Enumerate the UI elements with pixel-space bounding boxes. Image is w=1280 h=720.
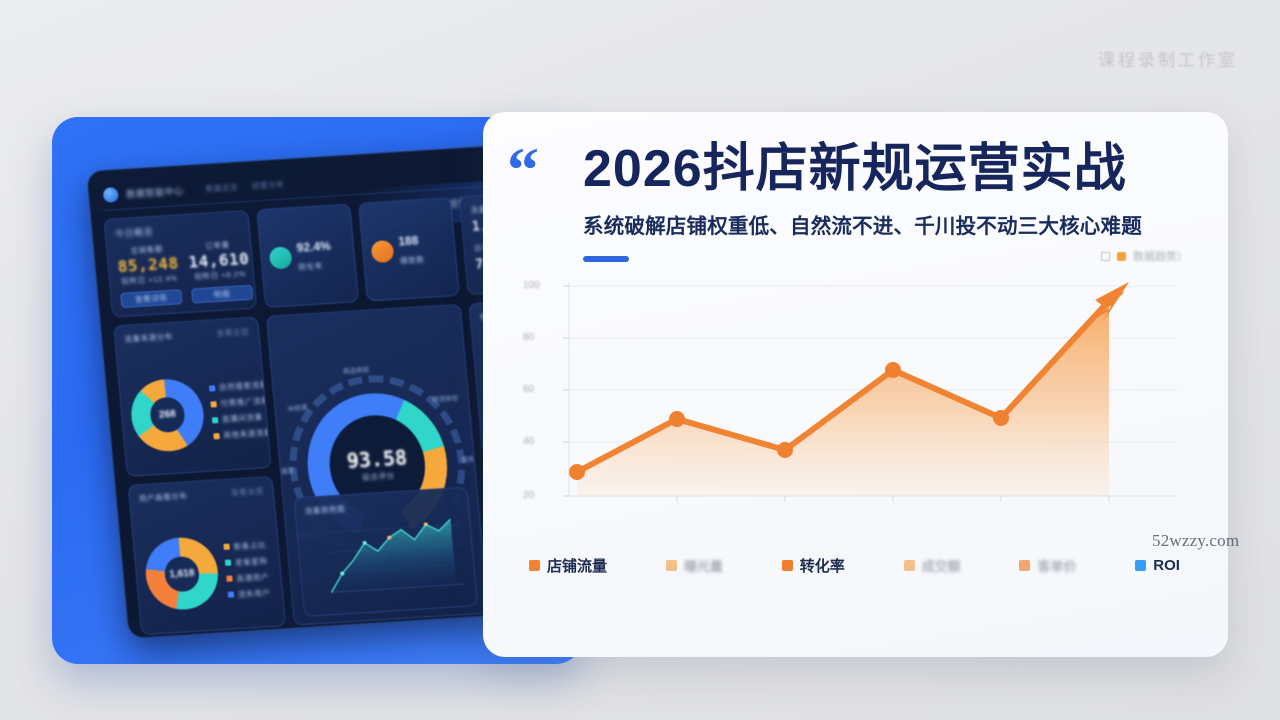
kpi-detail-button[interactable]: 查看详情 [120,289,182,308]
user-profile-donut-card: 用户画像分布 查看全部 1,618 新客占比 老客复购 高潜用户 [128,475,286,635]
legend-swatch-icon [226,576,233,582]
dashboard-brand: 数据智能中心 [126,184,185,201]
data-point [569,464,585,480]
legend-swatch-icon [212,417,219,423]
donut-card-title: 用户画像分布 [138,490,188,504]
pill-label: 转化率 [298,261,323,271]
data-point [885,362,901,378]
chart-header-label: 数据趋势） [1133,248,1188,264]
donut-center: 1,618 [163,556,201,593]
kpi-overview-card: 今日概览 总销售额 85,248 较昨日 +12.4% 查看详情 订单量 [103,210,257,318]
area-chart [306,513,467,606]
pill-value: 92.4% [296,238,331,254]
kpi-sub: 较昨日 +8.2% [189,268,251,283]
data-point [777,442,793,458]
legend-swatch-icon [904,560,915,571]
legend-swatch-icon [213,433,220,439]
legend-label: 其他来源流量 [223,427,271,441]
flame-icon [370,239,394,262]
legend-item-0[interactable]: 店铺流量 [529,555,607,576]
donut-chart: 268 [128,377,206,453]
y-axis-label: 60 [523,384,534,395]
donut-legend: 自然搜索流量 付费推广流量 直播间流量 其他来源流量 [209,379,272,441]
legend-label: 流失用户 [237,587,270,600]
chart-area-fill [577,296,1109,496]
legend-swatch-icon [1019,560,1030,571]
gauge-tick-label: 退款速度 [267,464,294,476]
growth-trend-chart: 100 80 60 40 20 [517,274,1194,546]
chart-legend: 店铺流量 曝光量 转化率 成交额 客单价 ROI [517,552,1194,578]
legend-item: 直播间流量 [212,411,272,426]
legend-label: 自然搜索流量 [219,379,269,393]
legend-label: 转化率 [800,555,845,576]
legend-item: 流失用户 [228,587,271,601]
gauge-value: 93.58 [346,445,408,473]
donut-card-link[interactable]: 查看全部 [216,326,249,339]
legend-item-4[interactable]: 客单价 [1019,556,1076,575]
legend-label: 成交额 [922,556,961,575]
legend-item-3[interactable]: 成交额 [904,556,961,575]
kpi-card-title: 今日概览 [114,225,154,240]
donut-card-title: 流量来源分布 [124,331,174,345]
kpi-detail-button[interactable]: 明细 [191,285,253,304]
legend-swatch-icon [228,592,235,598]
pill-stat-card: 188 爆款数 [358,197,461,301]
legend-label: 店铺流量 [547,555,607,576]
data-point [993,410,1009,426]
kpi-detail-label: 明细 [213,288,230,300]
y-axis-label: 100 [523,280,540,291]
legend-item: 老客复购 [225,555,268,569]
dashboard-nav-item[interactable]: 数据总览 [205,181,238,194]
pill-card-group: 92.4% 转化率 188 爆款数 [256,197,460,308]
brand-logo-icon [103,187,119,203]
legend-swatch-icon [209,385,216,391]
gauge-tick-label: 商品体验 [342,363,369,375]
legend-label: 老客复购 [235,555,268,568]
chart-canvas [517,274,1194,546]
kpi-detail-label: 查看详情 [135,292,168,305]
course-hero-card: “ 2026抖店新规运营实战 系统破解店铺权重低、自然流不进、千川投不动三大核心… [483,112,1228,657]
traffic-source-donut-card: 流量来源分布 查看全部 268 自然搜索流量 付费推广流量 直播间流量 [113,316,271,476]
data-point [669,411,685,427]
pill-stat-card: 92.4% 转化率 [256,203,359,307]
kpi-metric: 订单量 14,610 较昨日 +8.2% 明细 [187,238,253,304]
legend-swatch-icon [1117,252,1126,261]
area-card-title: 流量趋势图 [304,503,345,516]
legend-label: 客单价 [1037,556,1076,575]
legend-item-1[interactable]: 曝光量 [666,556,723,575]
legend-label: 高潜用户 [236,571,269,584]
legend-item: 高潜用户 [226,571,269,585]
pulse-icon [268,246,292,269]
donut-legend: 新客占比 老客复购 高潜用户 流失用户 [223,539,271,600]
legend-swatch-icon [782,560,793,571]
pill-value: 188 [398,233,419,248]
grid-icon[interactable] [1101,252,1110,261]
page-subtitle: 系统破解店铺权重低、自然流不进、千川投不动三大核心难题 [583,209,1194,239]
y-axis-label: 40 [523,436,534,447]
donut-center-value: 1,618 [169,568,195,581]
site-watermark: 52wzzy.com [1152,531,1239,551]
donut-card-link[interactable]: 查看全部 [231,485,264,498]
legend-item-2[interactable]: 转化率 [782,555,845,576]
legend-swatch-icon [1135,560,1146,571]
legend-swatch-icon [225,560,232,566]
legend-label: 直播间流量 [222,412,263,425]
gauge-tick-label: 物流体验 [431,392,458,404]
pill-label: 爆款数 [400,254,425,264]
legend-label: 付费推广流量 [220,395,270,409]
legend-swatch-icon [529,560,540,571]
legend-label: 曝光量 [684,556,723,575]
legend-item: 其他来源流量 [213,427,271,442]
kpi-sub: 较昨日 +12.4% [119,272,181,287]
legend-swatch-icon [666,560,677,571]
y-axis-label: 80 [523,332,534,343]
donut-chart: 1,618 [143,536,221,612]
donut-center: 268 [149,397,187,434]
y-axis-label: 20 [523,490,534,501]
legend-item-5[interactable]: ROI [1135,557,1180,574]
legend-label: 新客占比 [233,539,266,552]
legend-swatch-icon [210,401,217,407]
traffic-trend-area-card: 流量趋势图 [293,487,478,617]
legend-swatch-icon [223,544,230,550]
legend-item: 付费推广流量 [210,395,270,410]
kpi-metric: 总销售额 85,248 较昨日 +12.4% 查看详情 [116,242,182,308]
legend-item: 新客占比 [223,539,266,553]
legend-item: 自然搜索流量 [209,379,269,394]
top-right-watermark: 课程录制工作室 [1098,46,1238,71]
donut-center-value: 268 [159,409,177,421]
page-title: 2026抖店新规运营实战 [583,142,1194,196]
gauge-tick-label: 纠纷率 [288,401,308,412]
quote-open-icon: “ [507,138,539,202]
dashboard-nav-item[interactable]: 经营分析 [252,179,285,192]
legend-label: ROI [1153,557,1180,574]
gauge-sub: 综合评分 [362,470,395,483]
chart-header: 数据趋势） [517,246,1194,266]
